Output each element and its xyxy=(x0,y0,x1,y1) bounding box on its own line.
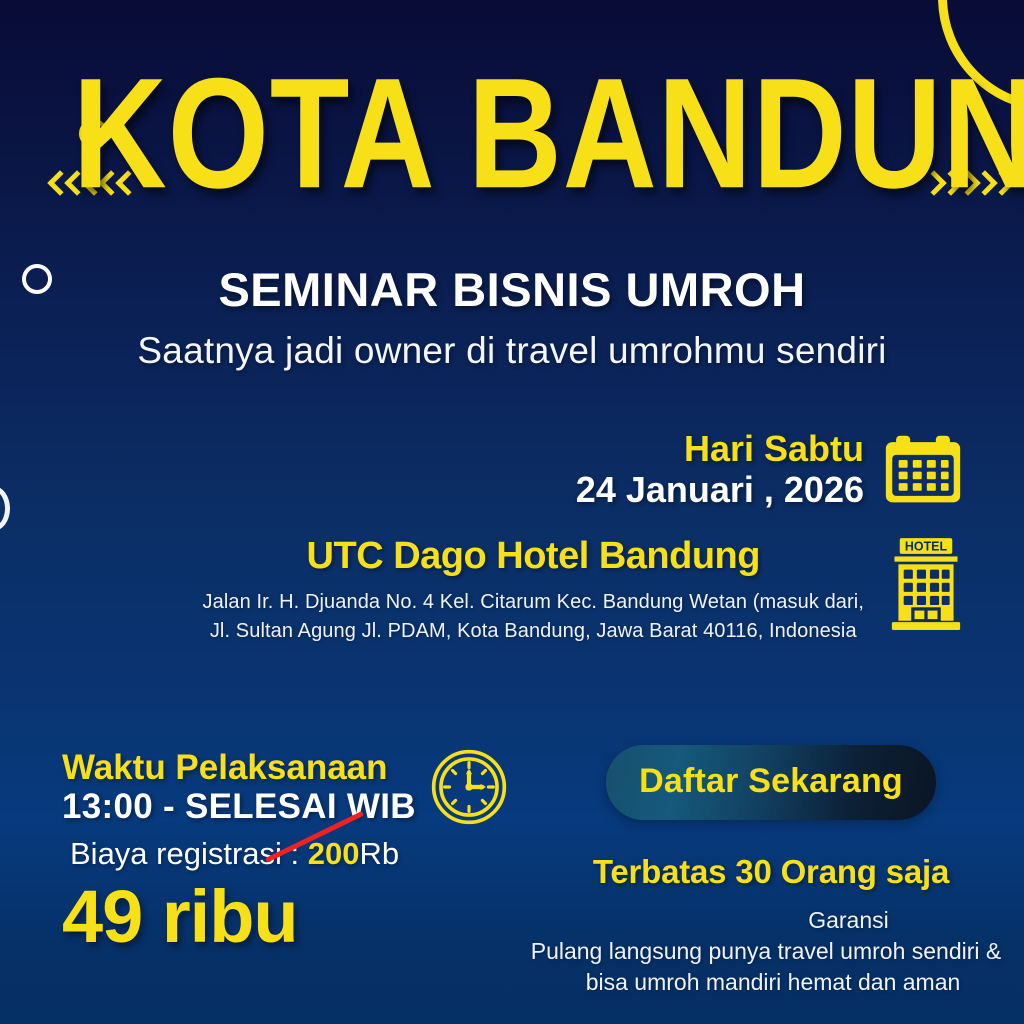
venue-row: UTC Dago Hotel Bandung Jalan Ir. H. Djua… xyxy=(0,534,1024,646)
calendar-icon xyxy=(882,428,964,510)
svg-text:HOTEL: HOTEL xyxy=(905,540,948,554)
schedule-date-value: 24 Januari , 2026 xyxy=(576,469,864,510)
time-and-price-block: Waktu Pelaksanaan 13:00 - SELESAI WIB xyxy=(62,748,508,956)
page-subtitle: Saatnya jadi owner di travel umrohmu sen… xyxy=(0,330,1024,372)
time-value: 13:00 - SELESAI WIB xyxy=(62,787,416,826)
page-title: SEMINAR BISNIS UMROH xyxy=(0,262,1024,317)
register-now-button[interactable]: Daftar Sekarang xyxy=(606,745,936,820)
venue-address-line-1: Jalan Ir. H. Djuanda No. 4 Kel. Citarum … xyxy=(203,588,865,617)
new-price-value: 49 ribu xyxy=(62,878,508,956)
guarantee-line-2: bisa umroh mandiri hemat dan aman xyxy=(538,967,1008,998)
schedule-text-group: Hari Sabtu 24 Januari , 2026 xyxy=(576,428,864,511)
city-title: KOTA BANDUNG xyxy=(73,60,1024,209)
venue-address: Jalan Ir. H. Djuanda No. 4 Kel. Citarum … xyxy=(203,588,865,646)
venue-address-line-2: Jl. Sultan Agung Jl. PDAM, Kota Bandung,… xyxy=(203,617,865,646)
guarantee-line-1: Pulang langsung punya travel umroh sendi… xyxy=(496,936,1024,967)
guarantee-title: Garansi xyxy=(556,905,986,936)
cta-block: Daftar Sekarang Terbatas 30 Orang saja G… xyxy=(556,745,986,997)
schedule-day-label: Hari Sabtu xyxy=(576,428,864,469)
venue-text-group: UTC Dago Hotel Bandung Jalan Ir. H. Djua… xyxy=(203,534,865,646)
guarantee-text-group: Garansi Pulang langsung punya travel umr… xyxy=(556,905,986,997)
time-header: Waktu Pelaksanaan 13:00 - SELESAI WIB xyxy=(62,748,508,826)
schedule-row: Hari Sabtu 24 Januari , 2026 xyxy=(0,428,1024,511)
old-price-unit: Rb xyxy=(360,836,400,871)
poster-canvas: KOTA BANDUNG SEMINAR BISNIS UMROH Saatny… xyxy=(0,0,1024,1024)
time-label: Waktu Pelaksanaan xyxy=(62,748,416,787)
old-price-value: 200 xyxy=(308,836,360,871)
hotel-building-icon: HOTEL xyxy=(884,534,968,634)
venue-name: UTC Dago Hotel Bandung xyxy=(203,534,865,580)
seat-limit-text: Terbatas 30 Orang saja xyxy=(556,853,986,891)
city-title-container: KOTA BANDUNG xyxy=(0,60,1024,201)
clock-icon xyxy=(430,748,508,826)
registration-price-row: Biaya registrasi : 200Rb xyxy=(70,836,508,872)
